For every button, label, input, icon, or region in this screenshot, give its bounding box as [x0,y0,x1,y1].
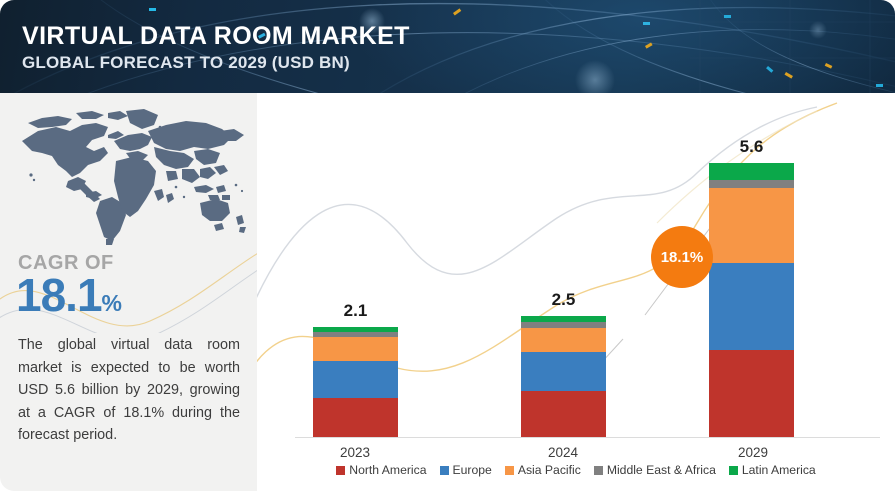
legend-label-middle-east-africa: Middle East & Africa [607,463,716,477]
page-subtitle: GLOBAL FORECAST TO 2029 (USD BN) [22,52,410,74]
bar-total-2023: 2.1 [313,301,398,321]
segment-asia-pacific-2024 [521,328,606,352]
x-label-2029: 2029 [698,445,808,460]
segment-asia-pacific-2029 [709,188,794,263]
legend-swatch-europe [440,466,449,475]
segment-middle-east-africa-2029 [709,180,794,188]
cagr-bubble-badge: 18.1% [651,226,713,288]
bar-total-2029: 5.6 [709,137,794,157]
legend-item-asia-pacific[interactable]: Asia Pacific [505,463,581,477]
segment-north-america-2029 [709,350,794,437]
stacked-bar-chart: 2.1 2023 2.5 2024 5.6 2029 18.1% North A… [257,93,895,491]
cagr-number: 18.1 [16,269,102,321]
legend-label-asia-pacific: Asia Pacific [518,463,581,477]
page-title: VIRTUAL DATA ROOM MARKET [22,21,410,51]
legend-swatch-asia-pacific [505,466,514,475]
bar-total-2024: 2.5 [521,290,606,310]
x-axis-line [295,437,880,438]
cagr-percent-sign: % [102,290,122,316]
legend-item-north-america[interactable]: North America [336,463,426,477]
chart-legend: North America Europe Asia Pacific Middle… [257,463,895,477]
segment-europe-2023 [313,361,398,398]
x-label-2024: 2024 [508,445,618,460]
legend-item-middle-east-africa[interactable]: Middle East & Africa [594,463,716,477]
legend-swatch-north-america [336,466,345,475]
legend-swatch-middle-east-africa [594,466,603,475]
segment-asia-pacific-2023 [313,337,398,361]
segment-europe-2029 [709,263,794,350]
legend-label-latin-america: Latin America [742,463,816,477]
bar-2024[interactable] [521,316,606,437]
legend-item-latin-america[interactable]: Latin America [729,463,816,477]
bar-2029[interactable] [709,163,794,437]
segment-north-america-2023 [313,398,398,437]
legend-label-north-america: North America [349,463,426,477]
segment-latin-america-2029 [709,163,794,180]
legend-label-europe: Europe [453,463,492,477]
x-label-2023: 2023 [300,445,410,460]
segment-europe-2024 [521,352,606,391]
legend-item-europe[interactable]: Europe [440,463,492,477]
summary-panel: CAGR OF 18.1% The global virtual data ro… [0,93,257,491]
bar-2023[interactable] [313,327,398,437]
world-map-icon [8,107,250,247]
cagr-value: 18.1% [16,269,122,329]
market-description: The global virtual data room market is e… [18,334,240,447]
header-banner: VIRTUAL DATA ROOM MARKET GLOBAL FORECAST… [0,0,895,93]
segment-north-america-2024 [521,391,606,437]
legend-swatch-latin-america [729,466,738,475]
